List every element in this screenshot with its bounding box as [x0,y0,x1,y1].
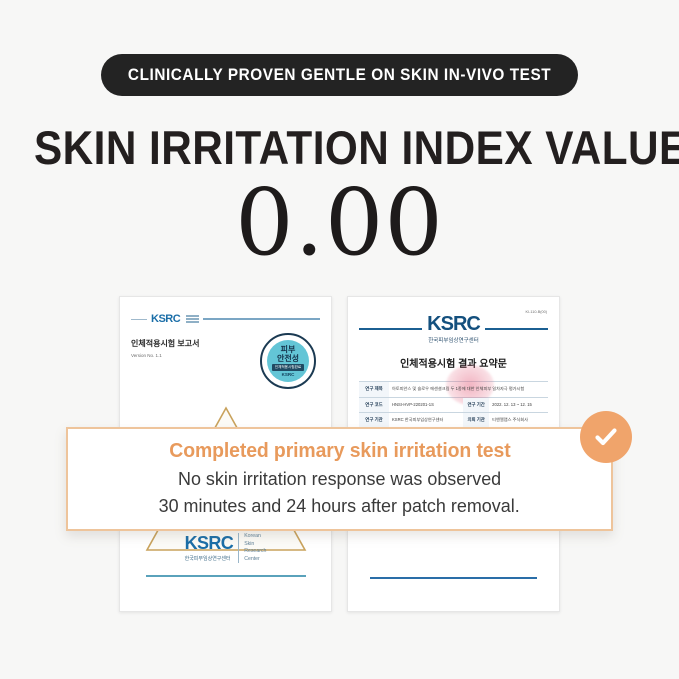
row-label-2: 의뢰 기관 [463,413,489,429]
banner-label: CLINICALLY PROVEN GENTLE ON SKIN IN-VIVO… [128,66,551,85]
seal-mark: KSRC [282,372,295,377]
page-title: SKIN IRRITATION INDEX VALUE [34,124,645,171]
right-doc-title: 인체적용시험 결과 요약문 [359,355,548,370]
table-row: 연구 제목 아토피안스 및 슬로우 에센셜크림 두 1종에 대한 인체피부 일차… [359,382,548,398]
ksrc-logo: KSRC [151,313,180,325]
callout-line-1: No skin irritation response was observed [178,467,501,492]
row-label: 연구 코드 [359,397,389,413]
ksrc-footer-logo: KSRC [185,533,234,554]
left-doc-footer: KSRC 한국피부임상연구센터 Korean Skin Research Cen… [120,533,331,577]
row-label: 연구 제목 [359,382,389,398]
left-doc-header: KSRC [131,313,320,325]
row-label: 연구 기관 [359,413,389,429]
ksrc-korean-name: 한국피부임상연구센터 [185,555,231,562]
right-doc-footer-rule [370,577,537,579]
row-value-2: 2022. 12. 13 ~ 12. 15 [489,397,548,413]
ksrc-en-line3: Research [244,548,266,556]
right-doc-code: KI-110-B(00) [526,310,547,314]
ksrc-english-name: Korean Skin Research Center [244,533,266,563]
footer-logo-row: KSRC 한국피부임상연구센터 Korean Skin Research Cen… [185,533,267,563]
right-doc-header: KSRC 한국피부임상연구센터 [359,314,548,344]
seal-inner: 피부 안전성 인체적용시험완료 KSRC [267,340,309,382]
row-label-2: 연구 기간 [463,397,489,413]
result-callout-box: Completed primary skin irritation test N… [66,427,613,531]
seal-band-text: 인체적용시험완료 [272,364,304,371]
ksrc-en-line2: Skin [244,541,266,549]
footer-logo-left: KSRC 한국피부임상연구센터 [185,533,234,563]
row-value: HNSI-HVP-220201-1S [389,397,463,413]
row-value: KSRC 한국피부임상연구센터 [389,413,463,429]
check-glyph [591,422,621,452]
ksrc-logo-block: KSRC 한국피부임상연구센터 [427,314,480,344]
irritation-index-value: 0.00 [0,177,679,269]
table-row: 연구 기관 KSRC 한국피부임상연구센터 의뢰 기관 티앤엘랩스 주식회사 [359,413,548,429]
header-rule-left [131,319,147,320]
footer-divider [238,533,239,563]
header-rule-right [203,318,320,320]
seal-line2: 안전성 [277,355,299,363]
logo-bars-icon [184,315,199,322]
callout-line-2: 30 minutes and 24 hours after patch remo… [159,494,520,519]
clinical-claim-banner: CLINICALLY PROVEN GENTLE ON SKIN IN-VIVO… [101,54,578,96]
callout-heading: Completed primary skin irritation test [169,440,510,463]
ksrc-en-line1: Korean [244,533,266,541]
ksrc-en-line4: Center [244,556,266,564]
check-icon [580,411,632,463]
ksrc-korean-name: 한국피부임상연구센터 [427,336,480,344]
safety-seal-badge: 피부 안전성 인체적용시험완료 KSRC [260,333,316,389]
header-rule-left [359,328,422,330]
footer-rule [146,575,306,577]
ksrc-logo: KSRC [427,313,480,335]
row-value: 아토피안스 및 슬로우 에센셜크림 두 1종에 대한 인체피부 일차자극 평가시… [389,382,548,398]
table-row: 연구 코드 HNSI-HVP-220201-1S 연구 기간 2022. 12.… [359,397,548,413]
row-value-2: 티앤엘랩스 주식회사 [489,413,548,429]
header-rule-right [485,328,548,330]
seal-line1: 피부 [281,346,296,354]
product-detail-page: CLINICALLY PROVEN GENTLE ON SKIN IN-VIVO… [0,0,679,679]
